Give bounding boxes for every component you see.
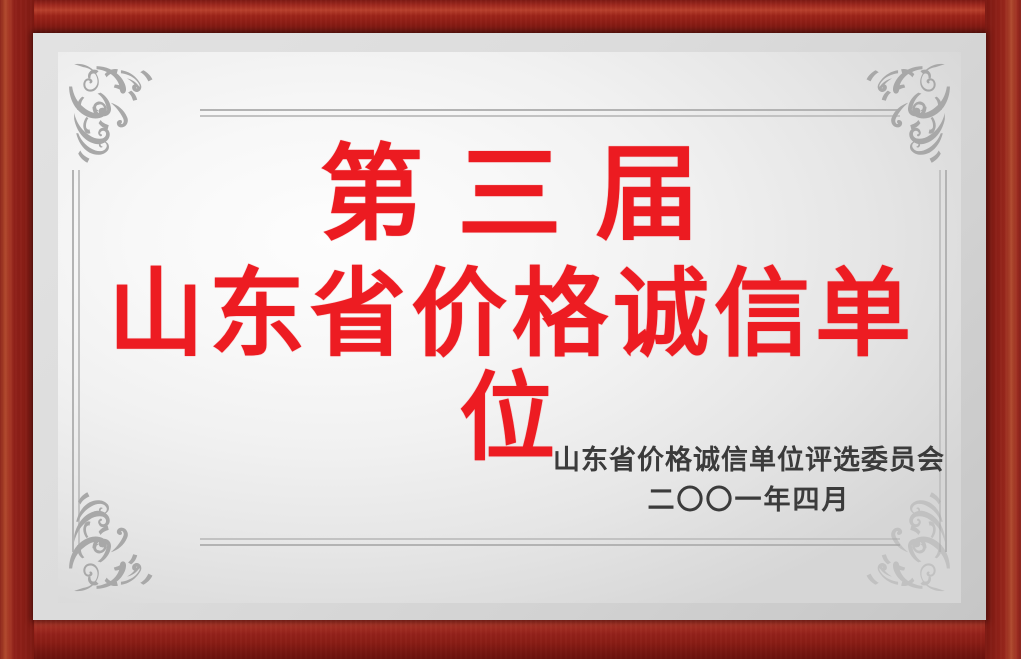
frame-top-rail <box>0 0 1021 34</box>
frame-bottom-rail <box>0 619 1021 659</box>
corner-flourish-icon <box>64 477 186 599</box>
frame-right-rail <box>985 0 1021 659</box>
border-rule-bottom-inner <box>200 538 900 540</box>
signature-block: 山东省价格诚信单位评选委员会 二〇〇一年四月 <box>553 443 945 517</box>
wood-grain-texture <box>0 619 1021 659</box>
wood-grain-texture <box>985 0 1021 659</box>
issuing-organization: 山东省价格诚信单位评选委员会 <box>553 443 945 477</box>
frame-left-rail <box>0 0 34 659</box>
issue-date: 二〇〇一年四月 <box>553 483 945 517</box>
award-plaque: 第三届 山东省价格诚信单位 山东省价格诚信单位评选委员会 二〇〇一年四月 <box>0 0 1021 659</box>
award-title-line-2: 山东省价格诚信单位 <box>58 262 961 470</box>
border-rule-bottom-outer <box>200 544 900 546</box>
border-rule-top-outer <box>200 109 900 111</box>
award-title-line-1: 第三届 <box>58 138 961 250</box>
wood-grain-texture <box>0 0 1021 34</box>
certificate-panel: 第三届 山东省价格诚信单位 山东省价格诚信单位评选委员会 二〇〇一年四月 <box>58 52 961 603</box>
border-rule-top-inner <box>200 115 900 117</box>
wood-grain-texture <box>0 0 34 659</box>
award-title: 第三届 山东省价格诚信单位 <box>58 138 961 470</box>
